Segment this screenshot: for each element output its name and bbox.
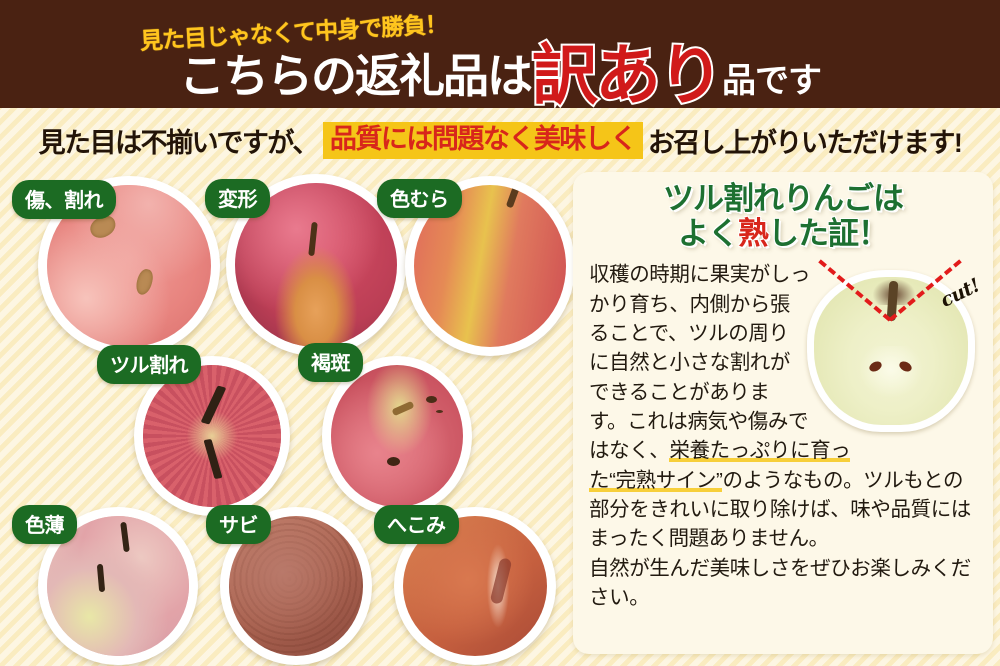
defect-badge-brown-spot: 褐斑 [298, 343, 363, 382]
info-heading-accent: 熟 [738, 216, 768, 251]
info-heading-line1: ツル割れりんごは [573, 182, 993, 217]
info-body-underline-2: “完熟サイン” [609, 469, 722, 492]
apple-seed [898, 359, 914, 373]
cut-apple-figure: cut! [801, 258, 983, 436]
defect-badge-dent: へこみ [374, 505, 459, 544]
apple-core [859, 346, 923, 398]
defect-badge-bruise-crack: 傷、割れ [12, 180, 116, 219]
defect-badge-stem-crack: ツル割れ [97, 345, 201, 384]
defect-badge-russet: サビ [206, 505, 271, 544]
info-panel: ツル割れりんごは よく熟した証！ [573, 172, 993, 654]
title-accent: 訳あり [532, 42, 721, 108]
info-body-3: 自然が生んだ美味しさをぜひお楽しみください。 [589, 557, 971, 609]
title-pre: こちらの返礼品は [179, 53, 531, 99]
header-title: こちらの返礼品は 訳あり 品です [0, 36, 1000, 102]
info-body-1: 収穫の時期に果実がしっかり育ち、内側から張ることで、ツルの周りに自然と小さな割れ… [589, 263, 810, 462]
info-heading-line2: よく熟した証！ [573, 217, 993, 252]
title-post: 品です [722, 64, 821, 98]
info-paragraph-2: 自然が生んだ美味しさをぜひお楽しみください。 [589, 554, 979, 613]
promo-page: 見た目じゃなくて中身で勝負！ こちらの返礼品は 訳あり 品です 見た目は不揃いで… [0, 0, 1000, 666]
apple-seed [868, 359, 884, 373]
info-panel-body: cut! 収穫の時期に果実がしっかり育ち、内側から張ることで、ツルの周りに自然と… [589, 260, 979, 612]
subheadline-highlight: 品質には問題なく美味しく [323, 122, 643, 159]
info-heading-line2-pre: よく [678, 216, 738, 251]
apple-brown-spot-photo [331, 365, 463, 507]
info-heading-line2-post: した証！ [768, 216, 888, 251]
subheadline-post: お召し上がりいただけます! [648, 121, 962, 160]
header-banner: 見た目じゃなくて中身で勝負！ こちらの返礼品は 訳あり 品です [0, 0, 1000, 108]
info-panel-heading: ツル割れりんごは よく熟した証！ [573, 182, 993, 251]
defect-badge-uneven-color: 色むら [377, 179, 462, 218]
defect-badge-deformed: 変形 [205, 179, 270, 218]
subheadline: 見た目は不揃いですが、 品質には問題なく美味しく お召し上がりいただけます! [0, 118, 1000, 162]
apple-stem-crack-photo [143, 365, 281, 507]
defect-badge-pale-color: 色薄 [12, 505, 77, 544]
subheadline-pre: 見た目は不揃いですが、 [39, 121, 318, 160]
